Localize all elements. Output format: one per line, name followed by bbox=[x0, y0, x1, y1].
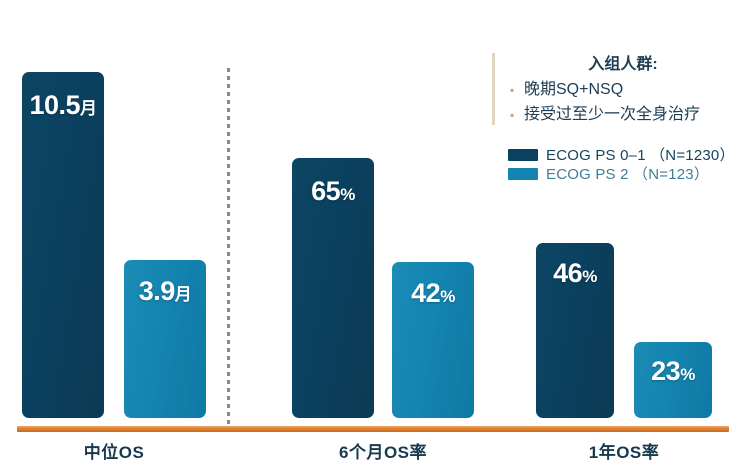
axis-label-1year-os: 1年OS率 bbox=[534, 438, 714, 463]
callout-item-label: 接受过至少一次全身治疗 bbox=[524, 106, 700, 123]
legend-label: ECOG PS 0–1 （N=1230） bbox=[546, 144, 735, 165]
callout-item-1: ▪接受过至少一次全身治疗 bbox=[510, 100, 700, 124]
legend-item-ps2: ECOG PS 2 （N=123） bbox=[508, 163, 709, 183]
callout-item-label: 晚期SQ+NSQ bbox=[524, 81, 623, 98]
bar-1year-os-ps2: 23% bbox=[634, 342, 712, 418]
legend-label: ECOG PS 2 （N=123） bbox=[546, 163, 709, 184]
axis-baseline bbox=[17, 426, 729, 432]
group-divider-dotted-line bbox=[227, 68, 230, 425]
bar-unit: % bbox=[582, 267, 597, 286]
bar-label-median-os-ps2: 3.9月 bbox=[124, 276, 206, 307]
bullet-icon: ▪ bbox=[510, 108, 524, 122]
bar-value: 23 bbox=[651, 356, 680, 386]
bar-label-6month-os-ps01: 65% bbox=[292, 176, 374, 207]
bar-unit: % bbox=[440, 287, 455, 306]
bar-median-os-ps01: 10.5月 bbox=[22, 72, 104, 418]
os-rate-bar-chart: 10.5月 3.9月 65% 42% 46% bbox=[0, 0, 746, 476]
bar-label-median-os-ps01: 10.5月 bbox=[22, 90, 104, 121]
enrollment-population-callout: 入组人群: ▪晚期SQ+NSQ ▪接受过至少一次全身治疗 bbox=[492, 50, 744, 128]
bar-label-1year-os-ps01: 46% bbox=[536, 258, 614, 289]
bar-value: 46 bbox=[553, 258, 582, 288]
category-axis-labels: 中位OS 6个月OS率 1年OS率 bbox=[0, 438, 746, 472]
bar-label-1year-os-ps2: 23% bbox=[634, 356, 712, 387]
bullet-icon: ▪ bbox=[510, 83, 524, 97]
axis-label-6month-os: 6个月OS率 bbox=[293, 438, 473, 463]
bar-value: 10.5 bbox=[29, 90, 80, 120]
bar-value: 65 bbox=[311, 176, 340, 206]
legend-item-ps01: ECOG PS 0–1 （N=1230） bbox=[508, 144, 735, 164]
bar-unit: 月 bbox=[175, 285, 192, 304]
bar-unit: % bbox=[680, 365, 695, 384]
bar-6month-os-ps2: 42% bbox=[392, 262, 474, 418]
bar-median-os-ps2: 3.9月 bbox=[124, 260, 206, 418]
bar-value: 42 bbox=[411, 278, 440, 308]
bar-6month-os-ps01: 65% bbox=[292, 158, 374, 418]
callout-item-0: ▪晚期SQ+NSQ bbox=[510, 75, 623, 99]
bar-label-6month-os-ps2: 42% bbox=[392, 278, 474, 309]
bar-1year-os-ps01: 46% bbox=[536, 243, 614, 418]
callout-vertical-rule bbox=[492, 53, 495, 125]
legend-swatch-icon bbox=[508, 168, 538, 180]
legend-swatch-icon bbox=[508, 149, 538, 161]
callout-title: 入组人群: bbox=[510, 50, 736, 74]
bar-unit: 月 bbox=[80, 99, 97, 118]
bar-value: 3.9 bbox=[139, 276, 175, 306]
chart-legend: ECOG PS 0–1 （N=1230） ECOG PS 2 （N=123） bbox=[508, 144, 746, 186]
axis-label-median-os: 中位OS bbox=[24, 438, 204, 463]
bar-unit: % bbox=[340, 185, 355, 204]
